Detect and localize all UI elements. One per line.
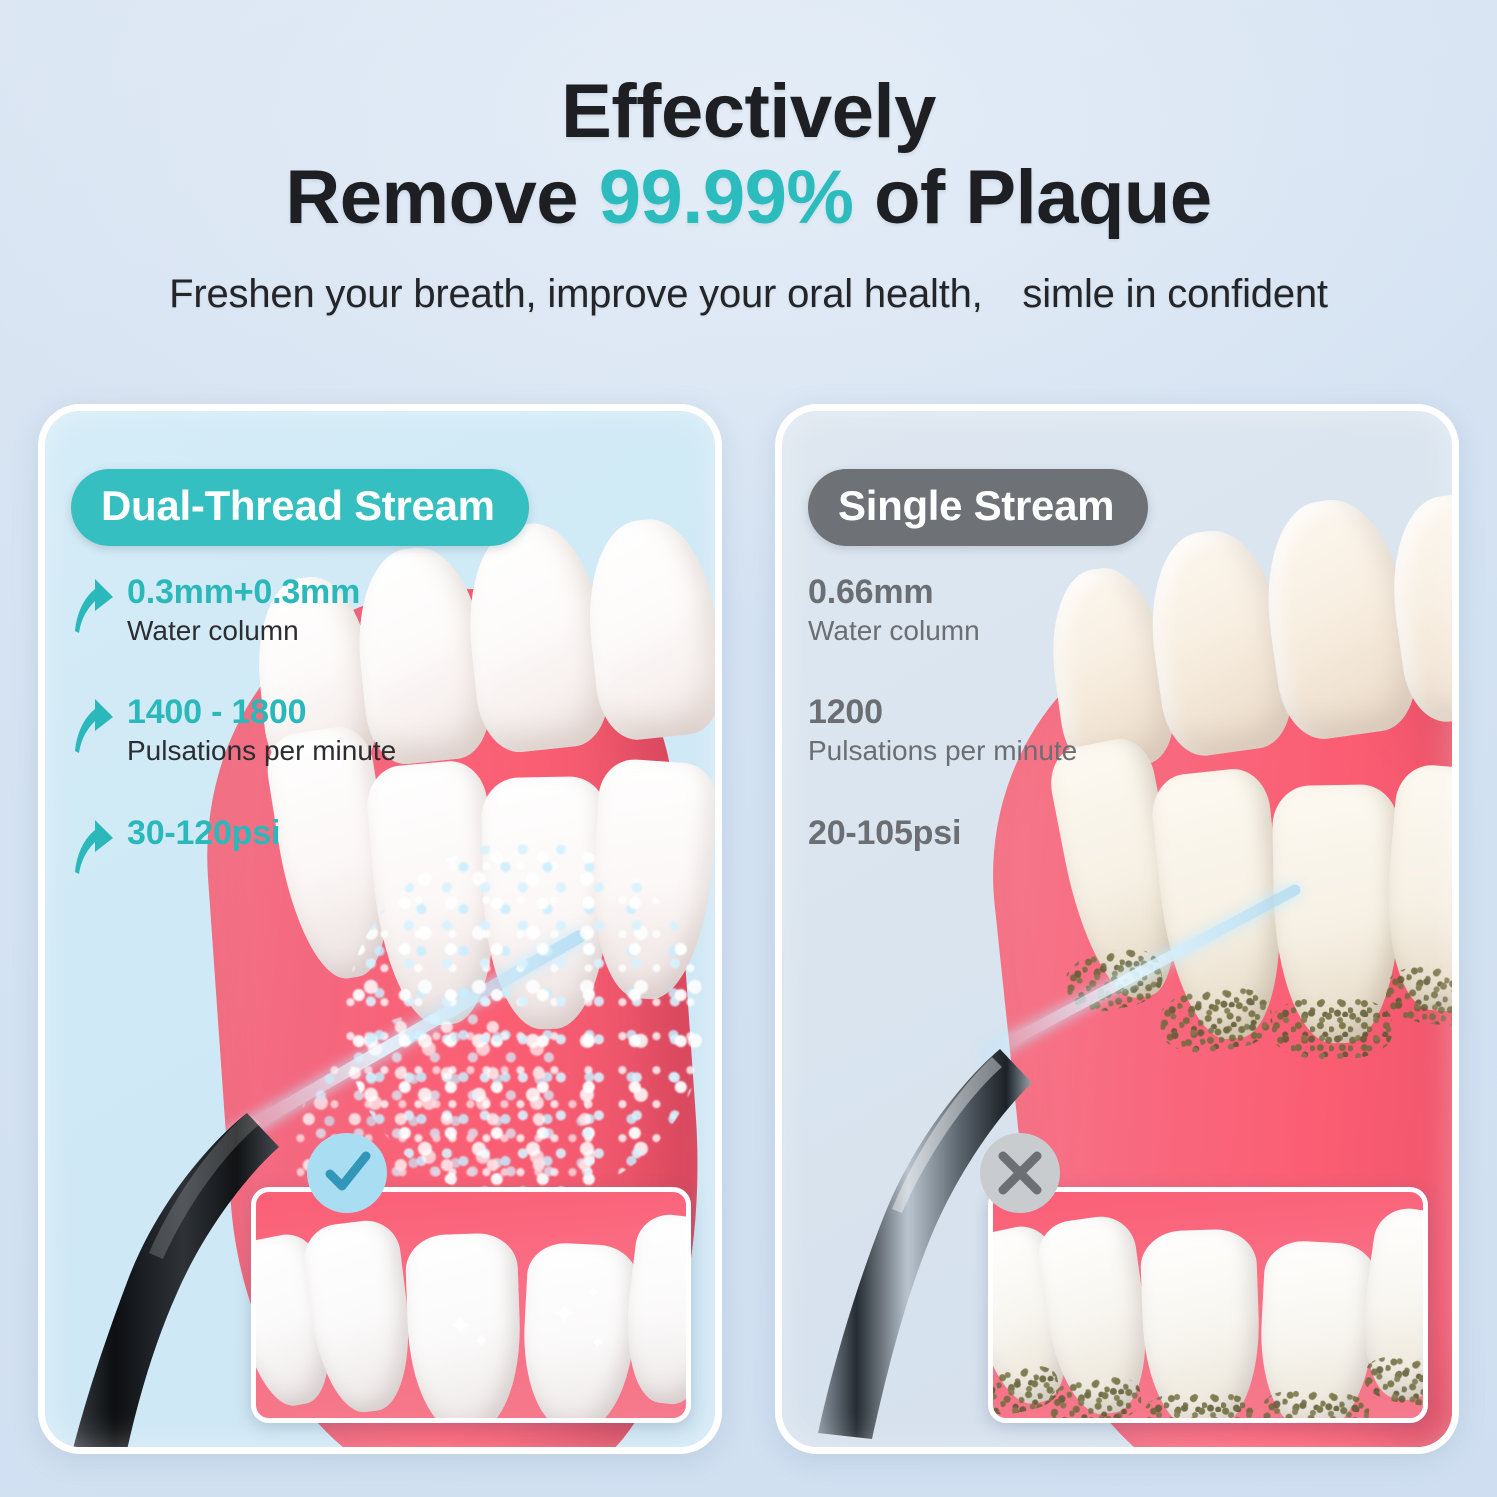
sparkle-icon: ✦ [590, 1334, 605, 1352]
cross-icon [995, 1148, 1045, 1198]
spec-label: Water column [127, 614, 360, 648]
page-title-line-1: Effectively [0, 72, 1497, 152]
spec-text: 30-120psi [127, 812, 280, 853]
page-title-prefix: Remove [285, 155, 598, 240]
spec-value: 1400 - 1800 [127, 693, 396, 732]
spec-text: 1400 - 1800 Pulsations per minute [127, 691, 396, 767]
panel-single-stream[interactable]: Single Stream 0.66mm Water column 1200 P… [775, 404, 1459, 1454]
status-badge-check [307, 1133, 387, 1213]
panel-dual-thread-stream[interactable]: ✦ ✦ ✦ ✦ ✦ Dual-Thread Stream 0.3mm+0.3mm… [38, 404, 722, 1454]
spec-item: 0.66mm Water column [808, 571, 1238, 647]
page-subtitle: Freshen your breath, improve your oral h… [0, 272, 1497, 317]
sparkle-icon: ✦ [586, 1284, 601, 1302]
spec-text: 0.66mm Water column [808, 571, 980, 647]
spec-value: 0.66mm [808, 573, 980, 612]
panel-badge-single-stream[interactable]: Single Stream [808, 469, 1148, 546]
page-header: Effectively Remove 99.99% of Plaque Fres… [0, 0, 1497, 317]
panel-badge-dual-thread[interactable]: Dual-Thread Stream [71, 469, 529, 546]
spec-text: 0.3mm+0.3mm Water column [127, 571, 360, 647]
curved-up-arrow-icon [71, 818, 121, 876]
spec-item: 30-120psi [71, 812, 501, 876]
page-title-line-2: Remove 99.99% of Plaque [0, 158, 1497, 238]
plaque-deposit-graphic [1145, 1392, 1255, 1423]
sparkle-icon: ✦ [552, 1300, 577, 1330]
spec-item: 0.3mm+0.3mm Water column [71, 571, 501, 647]
spec-label: Water column [808, 614, 980, 648]
spec-list-dual-thread: 0.3mm+0.3mm Water column 1400 - 1800 Pul… [71, 571, 501, 876]
curved-up-arrow-icon [71, 697, 121, 755]
plaque-deposit-graphic [1272, 997, 1392, 1059]
spec-label: Pulsations per minute [808, 734, 1077, 768]
check-icon [320, 1146, 374, 1200]
sparkle-icon: ✦ [474, 1332, 489, 1350]
spec-list-single-stream: 0.66mm Water column 1200 Pulsations per … [808, 571, 1238, 852]
spec-item: 20-105psi [808, 812, 1238, 853]
spec-label: Pulsations per minute [127, 734, 396, 768]
dual-thread-illustration: ✦ ✦ ✦ ✦ ✦ [45, 411, 715, 1447]
spec-text: 1200 Pulsations per minute [808, 691, 1077, 767]
sparkle-icon: ✦ [448, 1312, 473, 1342]
page-title-suffix: of Plaque [853, 155, 1211, 240]
spec-text: 20-105psi [808, 812, 961, 853]
spec-item: 1400 - 1800 Pulsations per minute [71, 691, 501, 767]
spec-item: 1200 Pulsations per minute [808, 691, 1238, 767]
spec-value: 30-120psi [127, 814, 280, 853]
status-badge-cross [980, 1133, 1060, 1213]
inset-clean-teeth: ✦ ✦ ✦ ✦ ✦ [251, 1187, 691, 1423]
inset-plaque-teeth [988, 1187, 1428, 1423]
spec-value: 1200 [808, 693, 1077, 732]
inset-tooth [617, 1211, 691, 1409]
single-stream-illustration [782, 411, 1452, 1447]
spec-value: 0.3mm+0.3mm [127, 573, 360, 612]
plaque-deposit-graphic [1362, 1352, 1428, 1410]
spec-value: 20-105psi [808, 814, 961, 853]
comparison-panels: ✦ ✦ ✦ ✦ ✦ Dual-Thread Stream 0.3mm+0.3mm… [38, 404, 1459, 1454]
plaque-percentage-value: 99.99% [599, 155, 854, 240]
inset-tooth [519, 1241, 639, 1423]
curved-up-arrow-icon [71, 577, 121, 635]
